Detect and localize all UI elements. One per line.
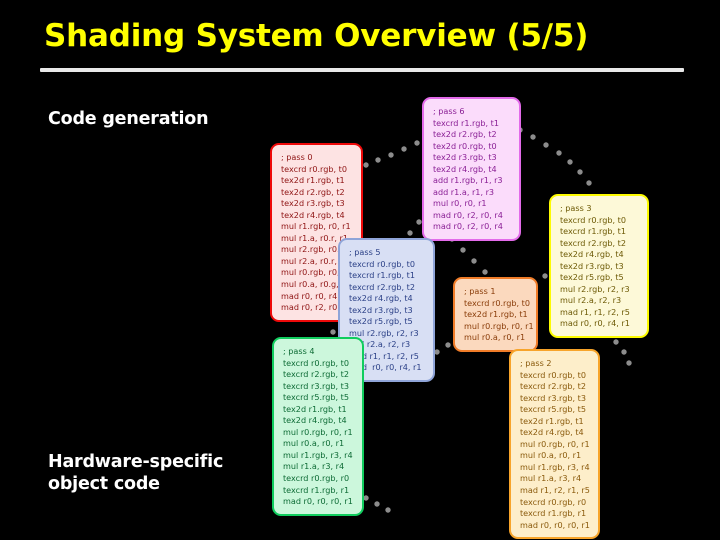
code-line: ; pass 4 — [283, 346, 354, 358]
code-line: tex2d r2.rgb, t2 — [433, 129, 511, 141]
code-line: texcrd r0.rgb, t0 — [283, 358, 354, 370]
code-line: texcrd r0.rgb, r0 — [520, 497, 590, 509]
code-line: texcrd r1.rgb, r1 — [520, 508, 590, 520]
code-line: tex2d r0.rgb, t0 — [433, 141, 511, 153]
code-line: tex2d r2.rgb, t2 — [281, 187, 353, 199]
code-line: tex2d r4.rgb, t4 — [283, 415, 354, 427]
code-box-pass3[interactable]: ; pass 3texcrd r0.rgb, t0texcrd r1.rgb, … — [549, 194, 649, 338]
code-line: texcrd r1.rgb, t1 — [433, 118, 511, 130]
label-object-code-line2: object code — [48, 474, 223, 496]
connector-dot — [388, 152, 393, 157]
connector-dot — [586, 180, 591, 185]
connector-dot — [577, 169, 582, 174]
label-object-code-line1: Hardware-specific — [48, 452, 223, 474]
code-line: tex2d r4.rgb, t4 — [433, 164, 511, 176]
code-line: mul r0.a, r0, r1 — [464, 332, 528, 344]
code-line: ; pass 6 — [433, 106, 511, 118]
code-line: mul r2.rgb, r2, r3 — [560, 284, 639, 296]
connector-dot — [363, 162, 368, 167]
code-line: ; pass 1 — [464, 286, 528, 298]
code-line: ; pass 0 — [281, 152, 353, 164]
connector-dot — [613, 339, 618, 344]
code-line: texcrd r0.rgb, t0 — [349, 259, 425, 271]
code-line: tex2d r1.rgb, t1 — [283, 404, 354, 416]
code-line: texcrd r2.rgb, t2 — [520, 381, 590, 393]
connector-dot — [543, 142, 548, 147]
code-line: tex2d r1.rgb, t1 — [520, 416, 590, 428]
label-object-code: Hardware-specific object code — [48, 452, 223, 496]
code-line: mul r0.a, r0, r1 — [283, 438, 354, 450]
code-line: texcrd r5.rgb, t5 — [283, 392, 354, 404]
code-line: tex2d r3.rgb, t3 — [349, 305, 425, 317]
code-line: texcrd r2.rgb, t2 — [283, 369, 354, 381]
code-line: tex2d r1.rgb, t1 — [281, 175, 353, 187]
code-line: mad r0, r2, r0, r4 — [433, 221, 511, 233]
code-line: texcrd r0.rgb, t0 — [560, 215, 639, 227]
code-line: mul r0.a, r0, r1 — [520, 450, 590, 462]
connector-dot — [434, 349, 439, 354]
code-line: mul r2.a, r2, r3 — [560, 295, 639, 307]
code-line: tex2d r5.rgb, t5 — [349, 316, 425, 328]
slide-canvas: Shading System Overview (5/5) Code gener… — [0, 0, 720, 540]
connector-dot — [416, 219, 421, 224]
code-line: tex2d r4.rgb, t4 — [281, 210, 353, 222]
code-line: tex2d r4.rgb, t4 — [560, 249, 639, 261]
code-line: texcrd r0.rgb, r0 — [283, 473, 354, 485]
connector-dot — [556, 150, 561, 155]
code-line: ; pass 3 — [560, 203, 639, 215]
code-line: mul r0.rgb, r0, r1 — [464, 321, 528, 333]
code-line: texcrd r1.rgb, t1 — [349, 270, 425, 282]
code-box-pass4[interactable]: ; pass 4texcrd r0.rgb, t0texcrd r2.rgb, … — [272, 337, 364, 516]
connector-dot — [330, 329, 335, 334]
code-line: tex2d r3.rgb, t3 — [433, 152, 511, 164]
code-line: texcrd r1.rgb, t1 — [560, 226, 639, 238]
code-line: ; pass 5 — [349, 247, 425, 259]
connector-dot — [407, 230, 412, 235]
code-line: tex2d r3.rgb, t3 — [560, 261, 639, 273]
code-line: add r1.rgb, r1, r3 — [433, 175, 511, 187]
code-line: tex2d r4.rgb, t4 — [349, 293, 425, 305]
connector-dot — [626, 360, 631, 365]
code-line: texcrd r0.rgb, t0 — [464, 298, 528, 310]
connector-dot — [414, 140, 419, 145]
code-line: mad r0, r0, r4, r1 — [560, 318, 639, 330]
code-line: mul r2.rgb, r2, r3 — [349, 328, 425, 340]
title-divider — [40, 68, 684, 72]
code-line: tex2d r4.rgb, t4 — [520, 427, 590, 439]
connector-dot — [363, 495, 368, 500]
code-line: mul r0.rgb, r0, r1 — [520, 439, 590, 451]
page-title: Shading System Overview (5/5) — [44, 18, 588, 54]
code-line: mad r0, r0, r0, r1 — [520, 520, 590, 532]
code-line: tex2d r1.rgb, t1 — [464, 309, 528, 321]
code-line: ; pass 2 — [520, 358, 590, 370]
label-code-generation: Code generation — [48, 109, 208, 131]
code-line: texcrd r1.rgb, r1 — [283, 485, 354, 497]
code-line: mul r0, r0, r1 — [433, 198, 511, 210]
code-line: mad r0, r0, r0, r1 — [283, 496, 354, 508]
code-box-pass1[interactable]: ; pass 1texcrd r0.rgb, t0tex2d r1.rgb, t… — [453, 277, 538, 352]
connector-dot — [542, 273, 547, 278]
code-box-pass6[interactable]: ; pass 6texcrd r1.rgb, t1tex2d r2.rgb, t… — [422, 97, 521, 241]
connector-dot — [375, 157, 380, 162]
code-line: tex2d r5.rgb, t5 — [560, 272, 639, 284]
code-line: tex2d r3.rgb, t3 — [281, 198, 353, 210]
code-line: texcrd r2.rgb, t2 — [349, 282, 425, 294]
code-line: texcrd r2.rgb, t2 — [560, 238, 639, 250]
connector-dot — [530, 134, 535, 139]
code-line: mad r0, r2, r0, r4 — [433, 210, 511, 222]
code-box-pass2[interactable]: ; pass 2texcrd r0.rgb, t0texcrd r2.rgb, … — [509, 349, 600, 539]
connector-dot — [621, 349, 626, 354]
connector-dot — [385, 507, 390, 512]
connector-dot — [471, 258, 476, 263]
connector-dot — [401, 146, 406, 151]
connector-dot — [460, 247, 465, 252]
connector-dot — [374, 501, 379, 506]
code-line: texcrd r3.rgb, t3 — [283, 381, 354, 393]
code-line: texcrd r0.rgb, t0 — [281, 164, 353, 176]
code-line: mul r0.rgb, r0, r1 — [283, 427, 354, 439]
code-line: texcrd r3.rgb, t3 — [520, 393, 590, 405]
code-line: mul r1.rgb, r3, r4 — [283, 450, 354, 462]
code-line: mul r1.rgb, r0, r1 — [281, 221, 353, 233]
code-line: mul r1.a, r3, r4 — [520, 473, 590, 485]
code-line: mul r1.rgb, r3, r4 — [520, 462, 590, 474]
code-line: mul r1.a, r3, r4 — [283, 461, 354, 473]
code-line: add r1.a, r1, r3 — [433, 187, 511, 199]
code-line: mad r1, r1, r2, r5 — [560, 307, 639, 319]
code-line: texcrd r0.rgb, t0 — [520, 370, 590, 382]
connector-dot — [567, 159, 572, 164]
code-line: mad r1, r2, r1, r5 — [520, 485, 590, 497]
code-line: texcrd r5.rgb, t5 — [520, 404, 590, 416]
connector-dot — [445, 342, 450, 347]
connector-dot — [482, 269, 487, 274]
